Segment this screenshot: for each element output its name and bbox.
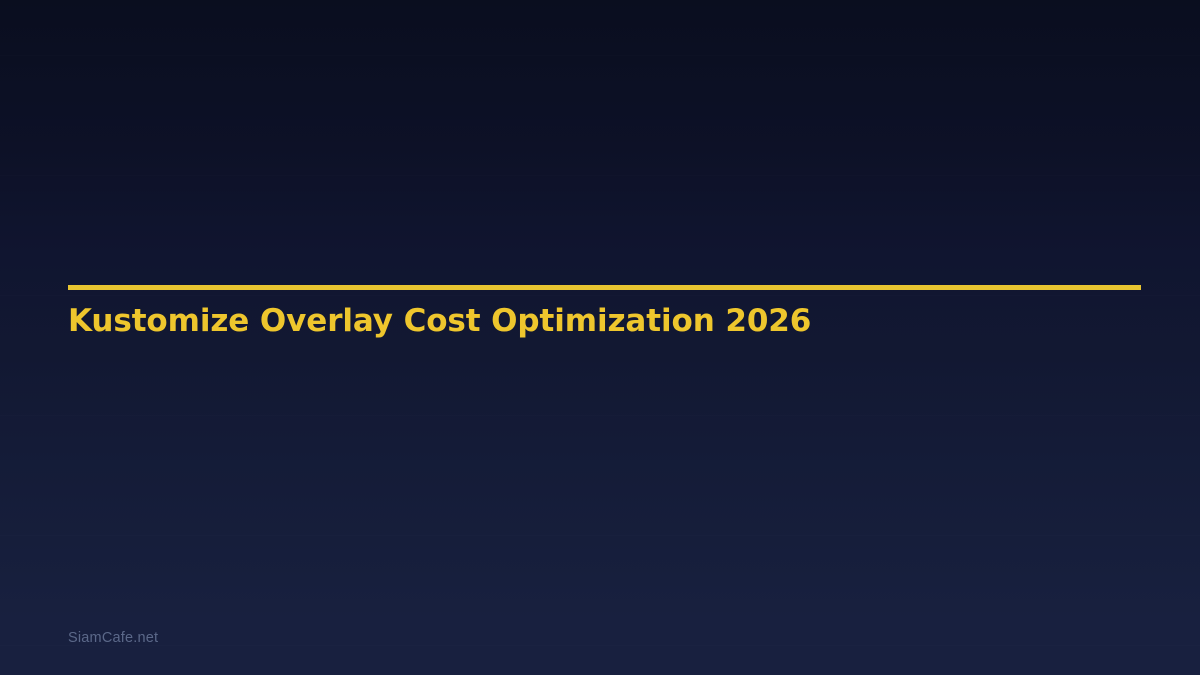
title-block: Kustomize Overlay Cost Optimization 2026 (68, 285, 1141, 339)
slide-title: Kustomize Overlay Cost Optimization 2026 (68, 290, 1141, 339)
gradient-band-seam (0, 175, 1200, 176)
gradient-band-seam (0, 415, 1200, 416)
slide-canvas: Kustomize Overlay Cost Optimization 2026… (0, 0, 1200, 675)
gradient-band-seam (0, 535, 1200, 536)
gradient-band-seam (0, 645, 1200, 646)
gradient-band-seam (0, 55, 1200, 56)
footer-brand-label: SiamCafe.net (68, 630, 158, 646)
